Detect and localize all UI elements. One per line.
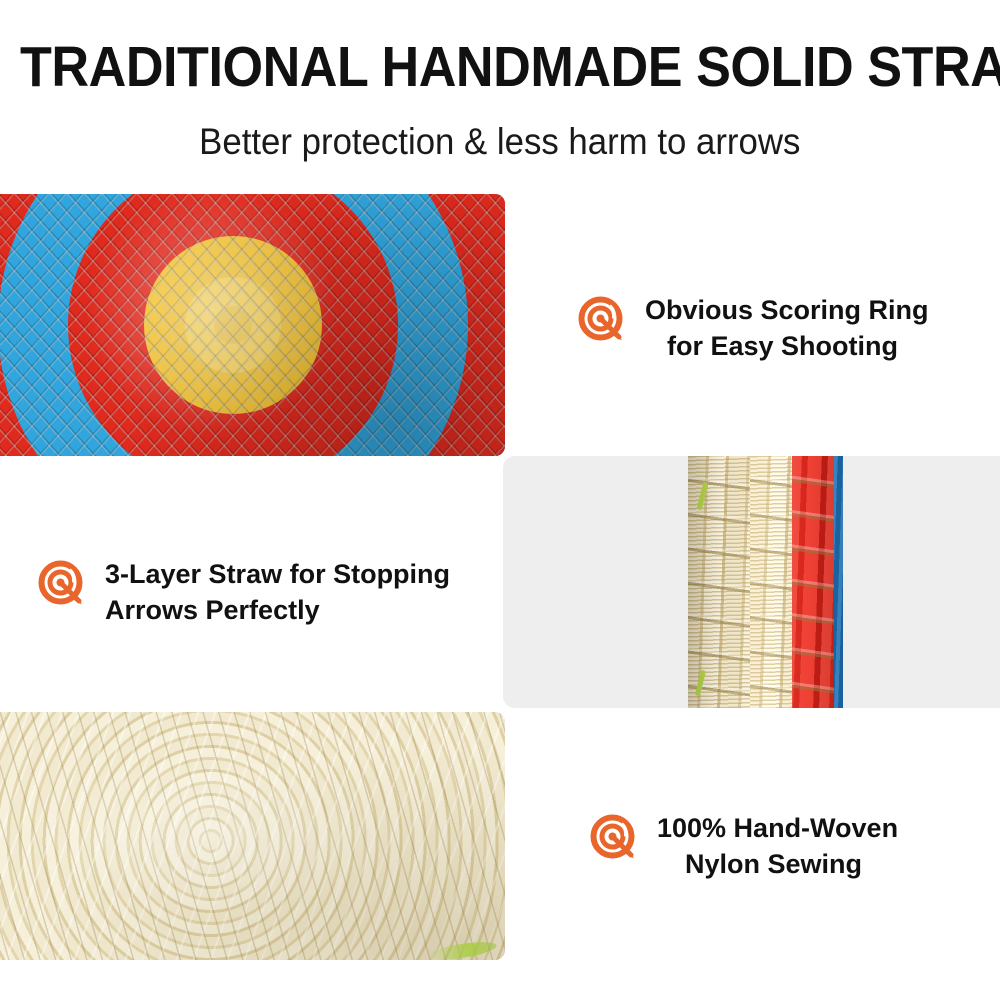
page-subtitle-text: Better protection & less harm to arrows — [199, 120, 800, 164]
coil-binding-threads — [750, 456, 792, 708]
page-title: TRADITIONAL HANDMADE SOLID STRAW — [20, 38, 898, 96]
feature-line-1: Obvious Scoring Ring — [645, 295, 929, 325]
target-bullseye — [214, 306, 252, 344]
natural-straw-spiral-photo — [0, 712, 505, 960]
target-arrow-icon — [38, 560, 88, 610]
straw-coil-column-left — [688, 456, 750, 708]
straw-coil-column-mid — [750, 456, 792, 708]
feature-3-layer-straw: 3-Layer Straw for Stopping Arrows Perfec… — [38, 556, 450, 628]
feature-line-1: 100% Hand-Woven — [657, 813, 898, 843]
feature-hand-woven-nylon-sewing: 100% Hand-Woven Nylon Sewing — [590, 810, 898, 882]
red-fabric-edge-column — [792, 456, 837, 708]
coil-binding-threads — [792, 456, 837, 708]
feature-line-2: Arrows Perfectly — [105, 592, 450, 628]
blue-fabric-sliver — [834, 456, 843, 708]
green-nylon-thread — [697, 482, 709, 510]
straw-spiral-coils — [0, 712, 505, 960]
feature-obvious-scoring-ring: Obvious Scoring Ring for Easy Shooting — [578, 292, 929, 364]
feature-line-1: 3-Layer Straw for Stopping — [105, 559, 450, 589]
straw-edge-photo — [503, 456, 1000, 708]
feature-text: Obvious Scoring Ring for Easy Shooting — [645, 292, 929, 364]
target-rings — [0, 194, 505, 456]
coil-binding-threads — [688, 456, 750, 708]
woven-color-target-photo — [0, 194, 505, 456]
feature-text: 3-Layer Straw for Stopping Arrows Perfec… — [105, 556, 450, 628]
feature-line-2: Nylon Sewing — [657, 846, 898, 882]
green-nylon-thread — [695, 670, 706, 696]
page-subtitle: Better protection & less harm to arrows — [0, 120, 1000, 164]
infographic-page: TRADITIONAL HANDMADE SOLID STRAW Better … — [0, 0, 1000, 1000]
feature-text: 100% Hand-Woven Nylon Sewing — [657, 810, 898, 882]
target-arrow-icon — [590, 814, 640, 864]
feature-line-2: for Easy Shooting — [645, 328, 929, 364]
target-arrow-icon — [578, 296, 628, 346]
